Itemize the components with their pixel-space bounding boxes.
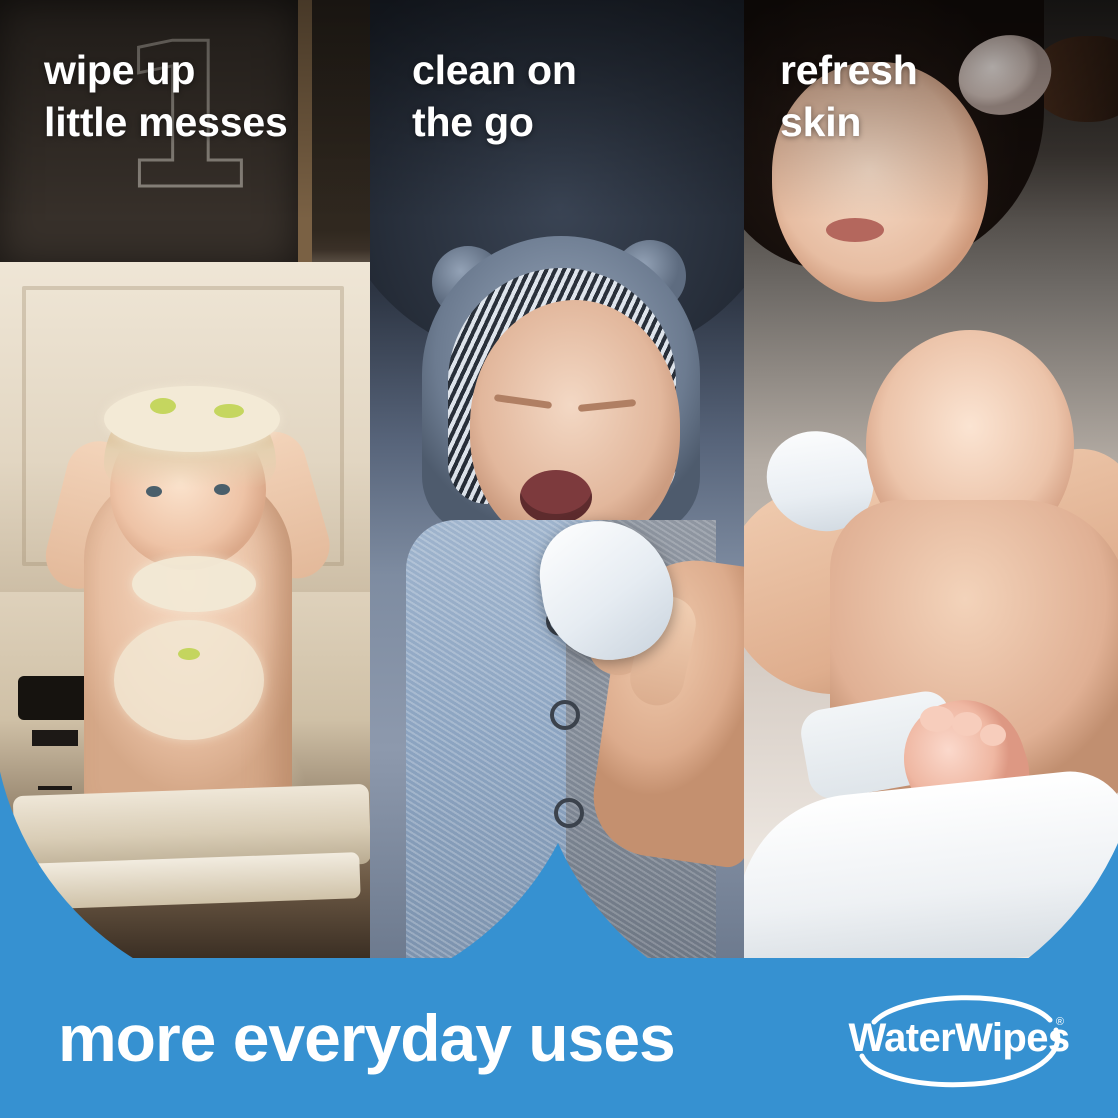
panel-refresh-skin[interactable]: refresh skin — [744, 0, 1118, 960]
green-icing-speck-3 — [178, 648, 200, 660]
baby-toe-1 — [920, 706, 954, 732]
panel-caption-refresh-skin: refresh skin — [780, 44, 918, 149]
panel-caption-wipe-up: wipe up little messes — [44, 44, 288, 149]
photo-baby-car-seat: clean on the go — [370, 0, 744, 960]
toddler-eye-left — [146, 486, 162, 497]
highchair-strap — [18, 676, 92, 720]
photo-panel-row: 1 wipe up litt — [0, 0, 1118, 960]
sleepsuit-snap-2 — [550, 700, 580, 730]
waterwipes-logo[interactable]: WaterWipes ® — [844, 986, 1074, 1090]
waterwipes-advertisement: 1 wipe up litt — [0, 0, 1118, 1118]
toddler-eye-right — [214, 484, 230, 495]
photo-toddler-cake-smash: 1 wipe up litt — [0, 0, 370, 960]
cake-frosting-head — [104, 386, 280, 452]
photo-mother-and-baby: refresh skin — [744, 0, 1118, 960]
baby-toe-2 — [952, 712, 982, 736]
panel-clean-on-the-go[interactable]: clean on the go — [370, 0, 744, 960]
cake-frosting-chest — [114, 620, 264, 740]
panel-caption-clean-on-the-go: clean on the go — [412, 44, 577, 149]
cake-frosting-chin — [132, 556, 256, 612]
green-icing-speck-1 — [150, 398, 176, 414]
banner-headline: more everyday uses — [58, 1000, 675, 1076]
baby-open-mouth — [520, 470, 592, 524]
mother-lips — [826, 218, 884, 242]
registered-trademark-icon: ® — [1056, 1016, 1064, 1028]
sleepsuit-snap-3 — [554, 798, 584, 828]
waterwipes-wordmark: WaterWipes — [844, 986, 1074, 1090]
panel-wipe-up[interactable]: 1 wipe up litt — [0, 0, 370, 960]
white-blanket — [744, 766, 1118, 960]
bottom-banner: more everyday uses WaterWipes ® — [0, 958, 1118, 1118]
green-icing-speck-2 — [214, 404, 244, 418]
baby-toe-3 — [980, 724, 1006, 746]
